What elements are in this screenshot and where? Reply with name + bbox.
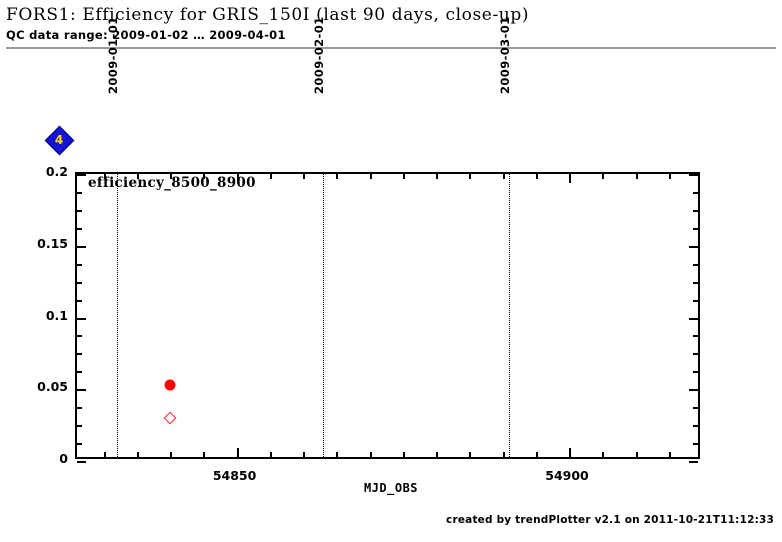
x-axis-tick-minor bbox=[636, 452, 638, 457]
y-axis-tick-label: 0.1 bbox=[0, 308, 68, 323]
x-axis-tick-minor bbox=[602, 174, 604, 179]
y-axis-tick-minor bbox=[77, 353, 82, 355]
x-axis-tick-minor bbox=[536, 174, 538, 179]
header-divider bbox=[6, 47, 776, 49]
x-axis-tick-minor bbox=[669, 452, 671, 457]
x-axis-tick-minor bbox=[403, 452, 405, 457]
y-axis-tick-minor bbox=[693, 300, 698, 302]
y-axis-tick-minor bbox=[693, 264, 698, 266]
y-axis-tick-label: 0 bbox=[0, 451, 68, 466]
y-axis-tick-major bbox=[77, 174, 86, 176]
date-gridline bbox=[323, 174, 324, 457]
x-axis-tick-minor bbox=[436, 174, 438, 179]
y-axis-tick-label: 0.05 bbox=[0, 379, 68, 394]
y-axis-tick-minor bbox=[77, 192, 82, 194]
x-axis-tick-minor bbox=[336, 452, 338, 457]
x-axis-tick-minor bbox=[436, 452, 438, 457]
x-axis-tick-major bbox=[569, 448, 571, 457]
y-axis-tick-label: 0.15 bbox=[0, 236, 68, 251]
y-axis-tick-major bbox=[689, 318, 698, 320]
plot-canvas bbox=[77, 174, 698, 457]
y-axis-tick-major bbox=[77, 318, 86, 320]
x-axis-tick-minor bbox=[336, 174, 338, 179]
y-axis-tick-minor bbox=[77, 264, 82, 266]
y-axis-tick-major bbox=[77, 246, 86, 248]
data-point-open-diamond bbox=[164, 412, 177, 425]
qc-score-badge[interactable]: 4 bbox=[46, 127, 72, 153]
y-axis-tick-minor bbox=[77, 443, 82, 445]
x-axis-tick-minor bbox=[203, 452, 205, 457]
date-gridline-label: 2009-01-01 bbox=[106, 16, 120, 94]
x-axis-tick-minor bbox=[303, 174, 305, 179]
legend-entry-label: efficiency_8500_8900 bbox=[88, 175, 256, 191]
x-axis-tick-minor bbox=[503, 452, 505, 457]
date-gridline-label: 2009-02-01 bbox=[312, 16, 326, 94]
y-axis-tick-minor bbox=[77, 335, 82, 337]
y-axis-tick-major bbox=[689, 461, 698, 463]
y-axis-tick-minor bbox=[693, 210, 698, 212]
x-axis-tick-minor bbox=[137, 452, 139, 457]
y-axis-tick-minor bbox=[693, 282, 698, 284]
y-axis-tick-minor bbox=[693, 407, 698, 409]
x-axis-tick-minor bbox=[602, 452, 604, 457]
y-axis-tick-minor bbox=[693, 228, 698, 230]
y-axis-tick-major bbox=[689, 246, 698, 248]
x-axis-tick-minor bbox=[469, 174, 471, 179]
x-axis-tick-minor bbox=[270, 452, 272, 457]
y-axis-tick-minor bbox=[77, 425, 82, 427]
y-axis-tick-label: 0.2 bbox=[0, 164, 68, 179]
x-axis-tick-minor bbox=[536, 452, 538, 457]
date-gridline bbox=[509, 174, 510, 457]
x-axis-tick-minor bbox=[636, 174, 638, 179]
x-axis-tick-minor bbox=[170, 452, 172, 457]
y-axis-tick-minor bbox=[693, 192, 698, 194]
y-axis-tick-minor bbox=[77, 282, 82, 284]
y-axis-tick-major bbox=[689, 174, 698, 176]
x-axis-tick-minor bbox=[370, 174, 372, 179]
date-gridline-label: 2009-03-01 bbox=[498, 16, 512, 94]
x-axis-tick-major bbox=[569, 174, 571, 183]
y-axis-tick-minor bbox=[77, 300, 82, 302]
qc-score-value: 4 bbox=[46, 127, 72, 153]
x-axis-tick-minor bbox=[270, 174, 272, 179]
y-axis-tick-minor bbox=[693, 353, 698, 355]
page-title: FORS1: Efficiency for GRIS_150I (last 90… bbox=[6, 5, 529, 25]
y-axis-tick-major bbox=[77, 461, 86, 463]
date-gridline bbox=[117, 174, 118, 457]
x-axis-tick-major bbox=[237, 448, 239, 457]
x-axis-tick-minor bbox=[469, 452, 471, 457]
y-axis-tick-minor bbox=[77, 407, 82, 409]
x-axis-title: MJD_OBS bbox=[0, 481, 782, 495]
x-axis-tick-minor bbox=[104, 452, 106, 457]
plot-frame[interactable] bbox=[75, 172, 700, 459]
y-axis-tick-minor bbox=[693, 443, 698, 445]
x-axis-tick-minor bbox=[669, 174, 671, 179]
x-axis-tick-minor bbox=[370, 452, 372, 457]
y-axis-tick-minor bbox=[693, 371, 698, 373]
y-axis-tick-major bbox=[689, 389, 698, 391]
x-axis-tick-minor bbox=[303, 452, 305, 457]
y-axis-tick-major bbox=[77, 389, 86, 391]
x-axis-tick-minor bbox=[503, 174, 505, 179]
footer-credit: created by trendPlotter v2.1 on 2011-10-… bbox=[446, 514, 774, 526]
y-axis-tick-minor bbox=[693, 425, 698, 427]
y-axis-tick-minor bbox=[77, 228, 82, 230]
y-axis-tick-minor bbox=[77, 210, 82, 212]
data-point-filled-circle bbox=[165, 379, 176, 390]
y-axis-tick-minor bbox=[693, 335, 698, 337]
qc-data-range: QC data range: 2009-01-02 … 2009-04-01 bbox=[6, 28, 286, 42]
x-axis-tick-minor bbox=[403, 174, 405, 179]
y-axis-tick-minor bbox=[77, 371, 82, 373]
